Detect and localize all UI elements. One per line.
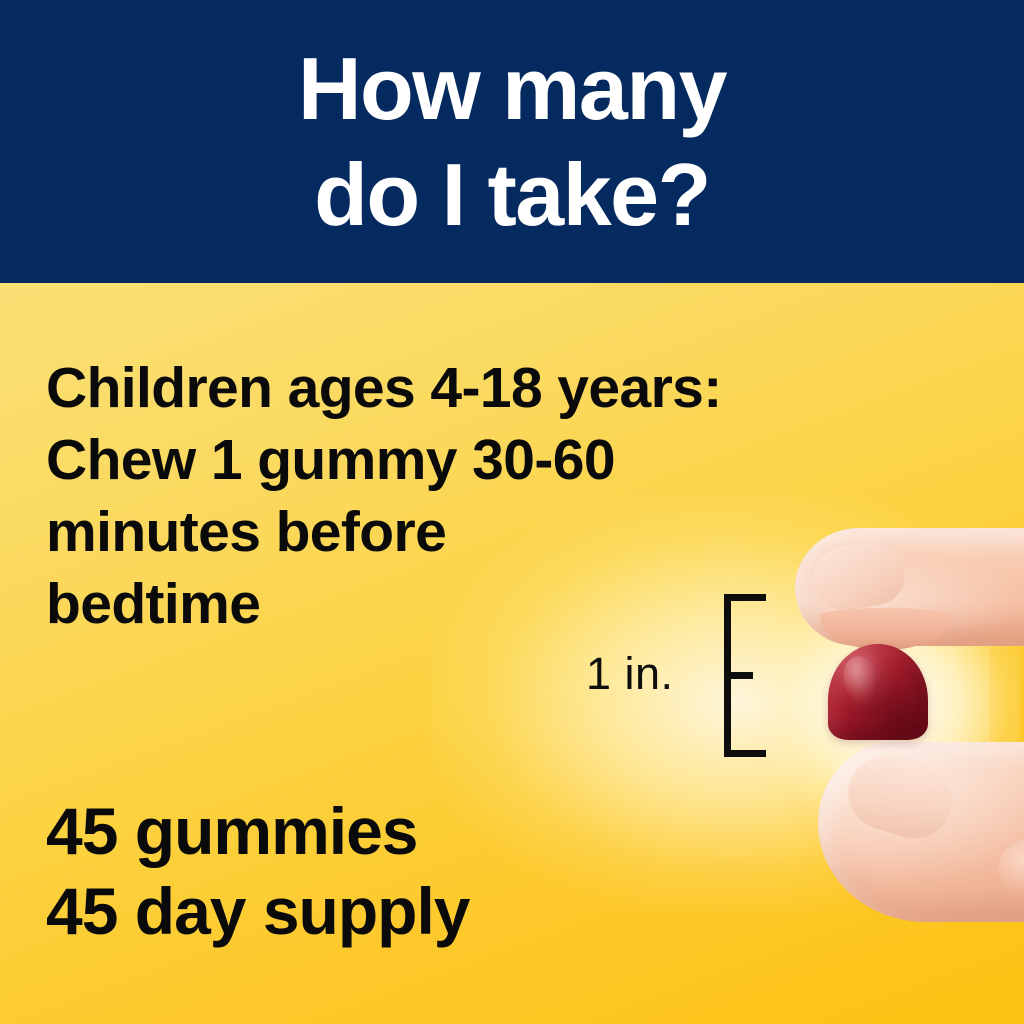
header-title-line-2: do I take? <box>314 142 710 248</box>
infographic-canvas: How many do I take? Children ages 4-18 y… <box>0 0 1024 1024</box>
supply-count: 45 gummies 45 day supply <box>46 791 470 951</box>
header-band: How many do I take? <box>0 0 1024 283</box>
dosage-instructions: Children ages 4-18 years: Chew 1 gummy 3… <box>46 352 976 640</box>
supply-line-1: 45 gummies <box>46 791 470 871</box>
instruction-line-1: Children ages 4-18 years: <box>46 352 976 424</box>
instruction-line-3: minutes before <box>46 496 976 568</box>
supply-line-2: 45 day supply <box>46 871 470 951</box>
instruction-line-4: bedtime <box>46 568 976 640</box>
instruction-line-2: Chew 1 gummy 30-60 <box>46 424 976 496</box>
measurement-label: 1 in. <box>586 648 674 700</box>
header-title-line-1: How many <box>298 36 726 142</box>
size-bracket-midtick-icon <box>724 672 753 679</box>
size-measurement: 1 in. <box>586 594 776 764</box>
